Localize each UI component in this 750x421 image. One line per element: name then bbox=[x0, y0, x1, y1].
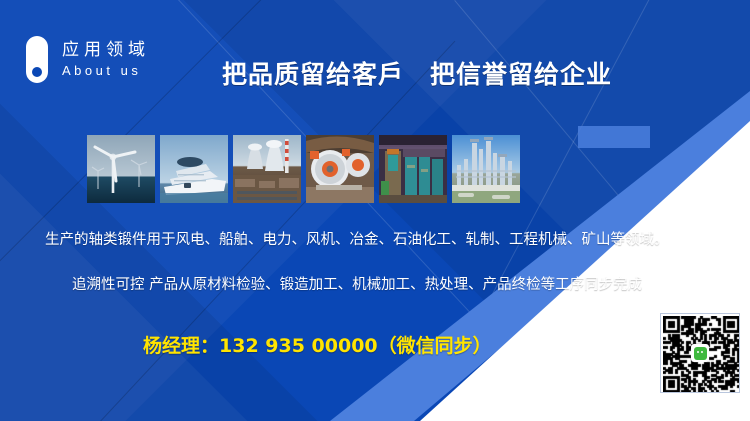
petrochemical-thumbnail bbox=[452, 135, 520, 203]
forging-press-thumbnail bbox=[379, 135, 447, 203]
wechat-qr-code[interactable] bbox=[660, 313, 740, 393]
wechat-logo-icon bbox=[691, 344, 709, 362]
badge-title-cn: 应用领域 bbox=[62, 42, 150, 60]
power-plant-thumbnail bbox=[233, 135, 301, 203]
industrial-fan-thumbnail bbox=[306, 135, 374, 203]
cruise-ship-thumbnail bbox=[160, 135, 228, 203]
about-us-banner: 应用领域 About us 把品质留给客戶 把信誉留给企业 bbox=[0, 0, 750, 421]
application-thumbnail-strip bbox=[87, 135, 520, 203]
headline-slogan: 把品质留给客戶 把信誉留给企业 bbox=[222, 55, 612, 91]
pill-marker-icon bbox=[26, 36, 48, 83]
body-text-line-2: 追溯性可控 产品从原材料检验、锻造加工、机械加工、热处理、产品终检等工序同步完成 bbox=[72, 273, 642, 294]
body-text-line-1: 生产的轴类锻件用于风电、船舶、电力、风机、冶金、石油化工、轧制、工程机械、矿山等… bbox=[45, 228, 669, 249]
wind-turbine-thumbnail bbox=[87, 135, 155, 203]
contact-info: 杨经理：132 935 00000（微信同步） bbox=[143, 331, 492, 358]
section-badge: 应用领域 About us bbox=[26, 36, 150, 83]
pill-dot bbox=[32, 67, 42, 77]
badge-text: 应用领域 About us bbox=[62, 42, 150, 77]
badge-title-en: About us bbox=[62, 64, 150, 78]
small-blue-wedge bbox=[578, 126, 650, 148]
